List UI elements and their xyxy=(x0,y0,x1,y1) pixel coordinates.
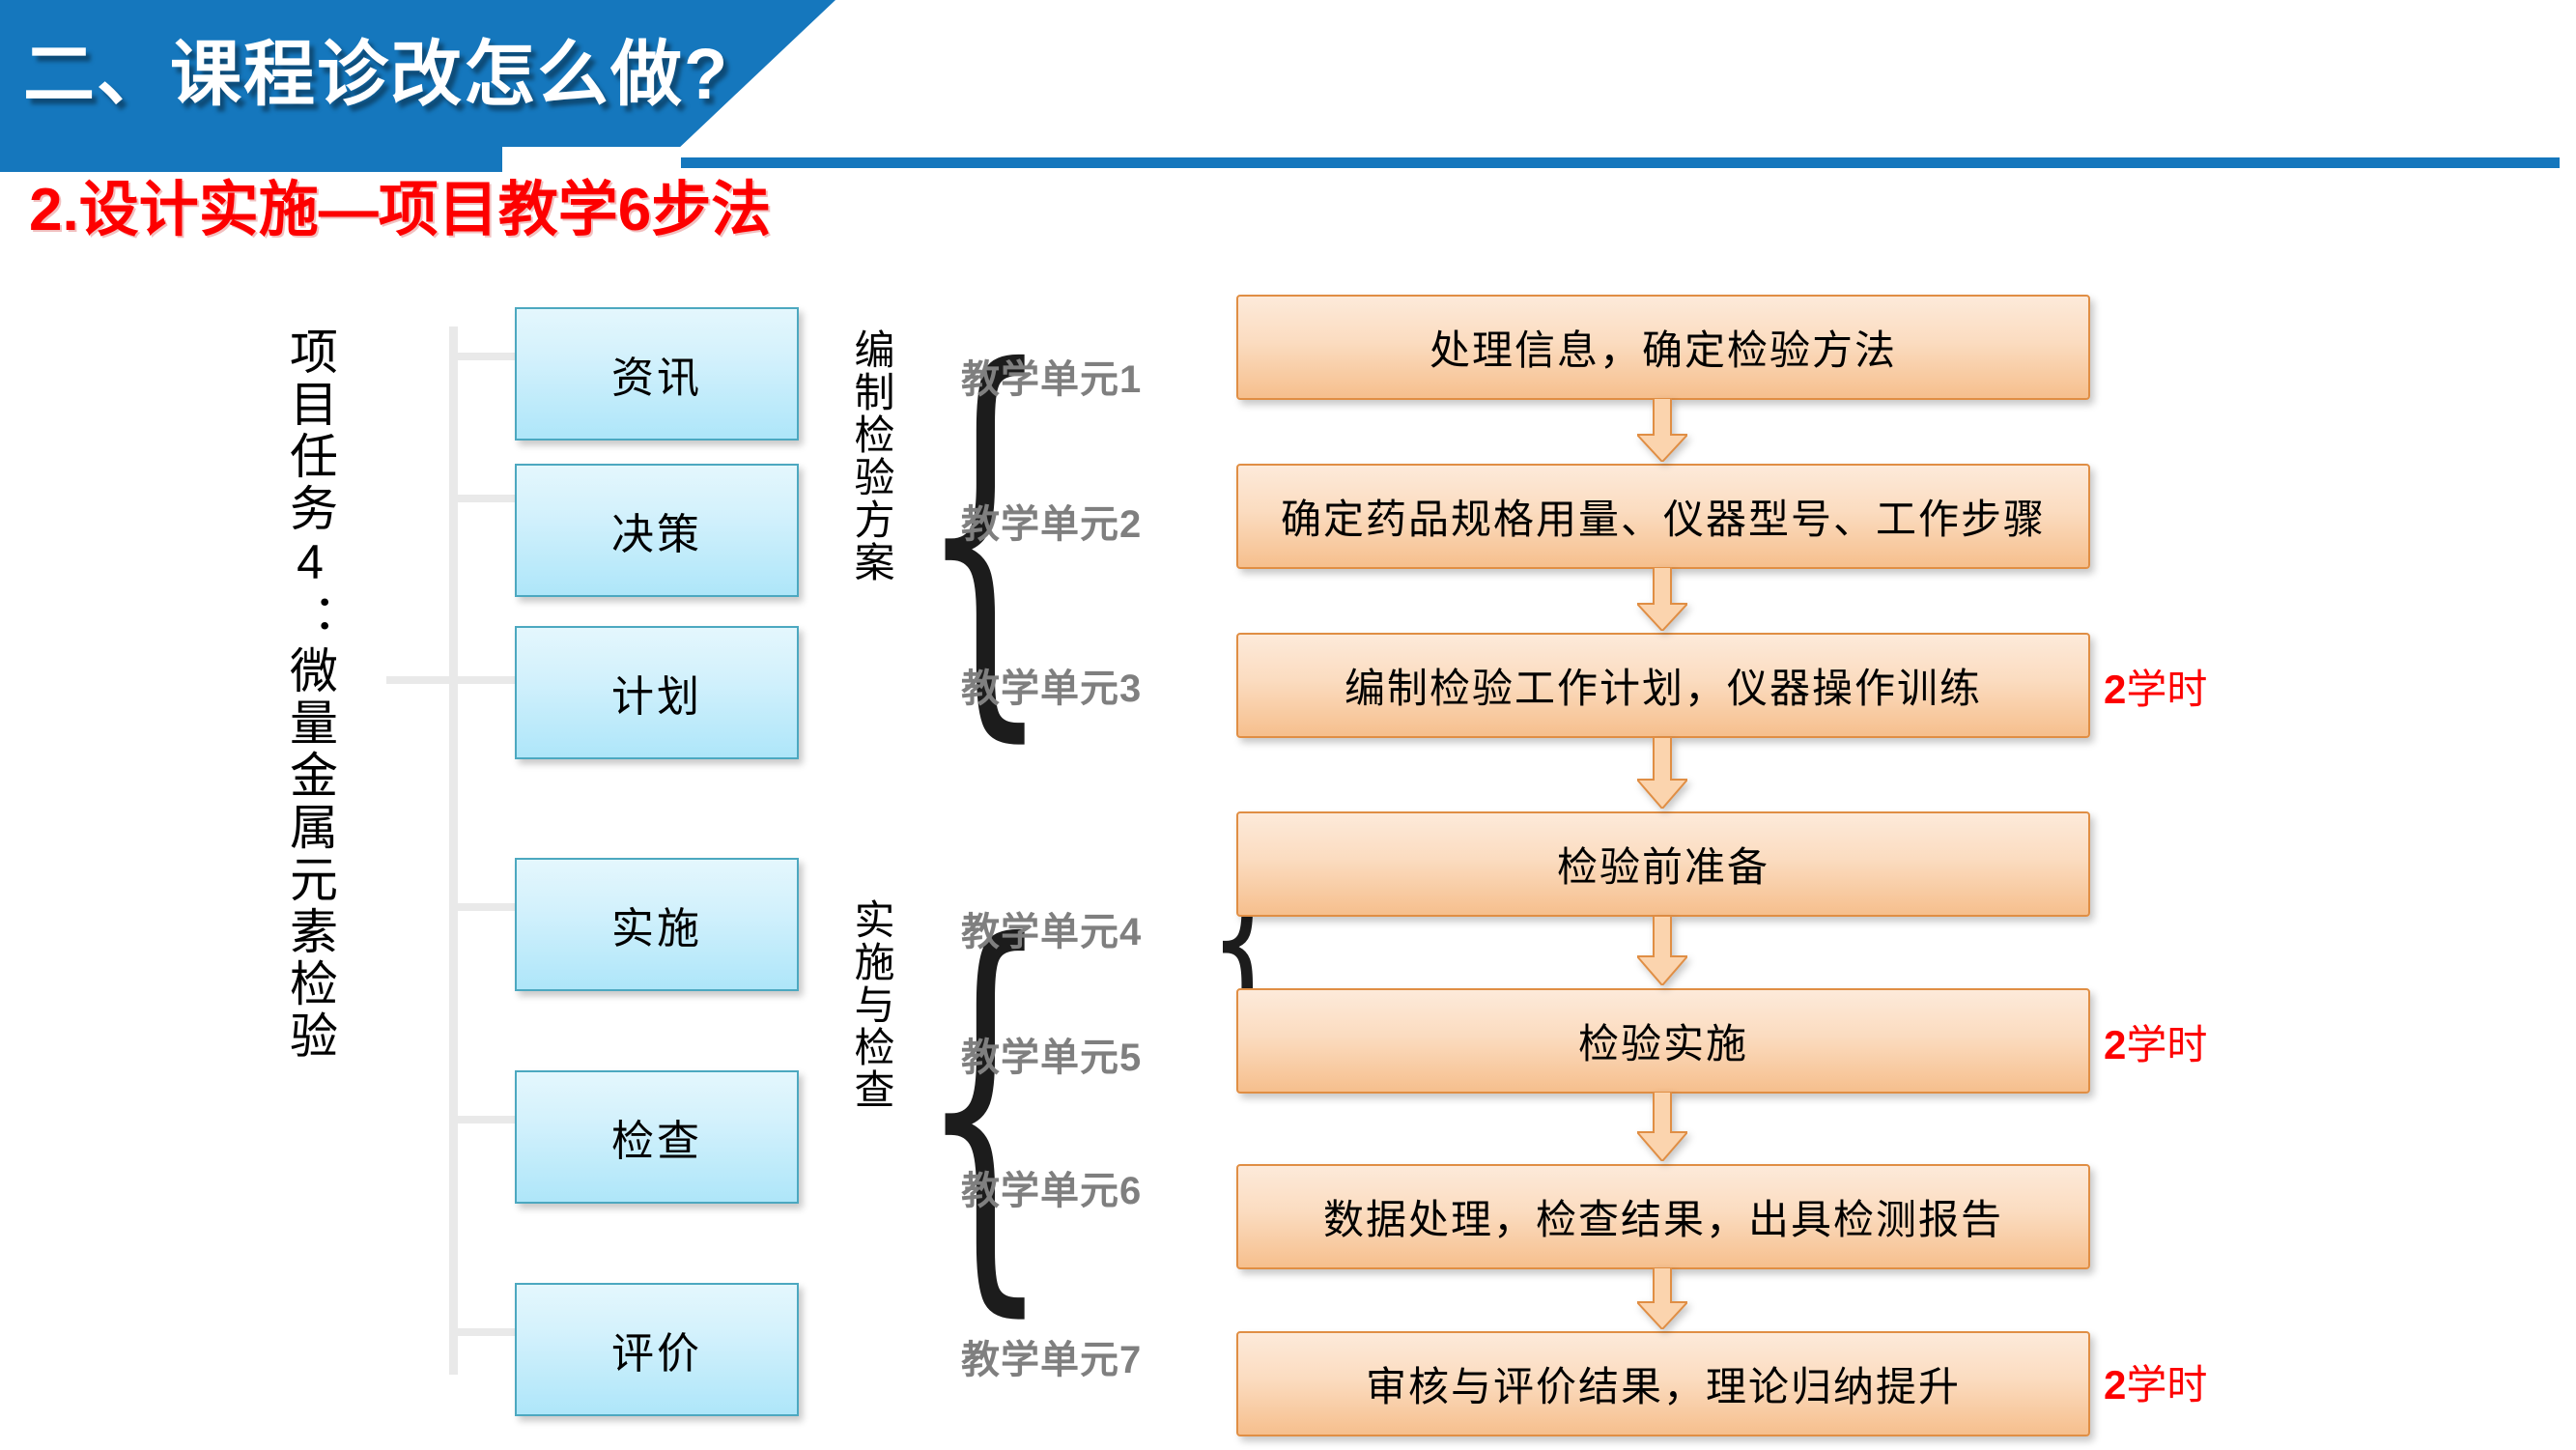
unit-label-4: 教学单元4 xyxy=(961,900,1183,956)
arrow-down-icon xyxy=(1637,567,1687,631)
credit-hours-value: 2 xyxy=(2104,667,2126,712)
flow-box-review-evaluate[interactable]: 审核与评价结果，理论归纳提升 xyxy=(1236,1331,2090,1436)
step-box-evaluate[interactable]: 评价 xyxy=(515,1283,799,1416)
unit-label-6: 教学单元6 xyxy=(961,1159,1183,1215)
step-box-implement[interactable]: 实施 xyxy=(515,858,799,991)
tree-branch-line xyxy=(451,903,516,911)
credit-hours-badge-1: 2学时 xyxy=(2104,657,2207,716)
group-label-execute-phase: 实施与检查 xyxy=(842,898,898,1188)
brace-icon-group-two: { xyxy=(920,894,1050,1317)
flow-box-label: 确定药品规格用量、仪器型号、工作步骤 xyxy=(1281,487,2046,546)
step-box-check[interactable]: 检查 xyxy=(515,1070,799,1204)
step-box-label: 实施 xyxy=(611,894,702,955)
tree-branch-line xyxy=(451,676,516,684)
flow-box-label: 处理信息，确定检验方法 xyxy=(1430,318,1897,377)
credit-hours-unit: 学时 xyxy=(2126,1022,2207,1067)
step-box-label: 计划 xyxy=(611,662,702,724)
flow-box-inspection-exec[interactable]: 检验实施 xyxy=(1236,988,2090,1094)
page-title: 二、课程诊改怎么做? xyxy=(23,17,777,133)
step-box-label: 资讯 xyxy=(611,343,702,405)
credit-hours-value: 2 xyxy=(2104,1362,2126,1407)
unit-label-1: 教学单元1 xyxy=(961,348,1183,404)
tree-root-connector-line xyxy=(386,676,456,684)
step-box-decision[interactable]: 决策 xyxy=(515,464,799,597)
header-banner-notch xyxy=(502,147,695,174)
step-box-label: 决策 xyxy=(611,499,702,561)
credit-hours-value: 2 xyxy=(2104,1022,2126,1067)
tree-branch-line xyxy=(451,353,516,360)
arrow-down-icon xyxy=(1637,398,1687,462)
arrow-down-icon xyxy=(1637,1092,1687,1161)
flow-box-label: 审核与评价结果，理论归纳提升 xyxy=(1366,1354,1961,1413)
flow-box-process-info[interactable]: 处理信息，确定检验方法 xyxy=(1236,295,2090,400)
tree-branch-line xyxy=(451,495,516,502)
credit-hours-badge-2: 2学时 xyxy=(2104,1012,2207,1071)
section-title: 2.设计实施—项目教学6步法 xyxy=(29,172,771,249)
group-label-plan-phase: 编制检验方案 xyxy=(842,328,898,734)
flow-box-work-plan[interactable]: 编制检验工作计划，仪器操作训练 xyxy=(1236,633,2090,738)
credit-hours-badge-3: 2学时 xyxy=(2104,1352,2207,1411)
header-divider-rule xyxy=(681,157,2560,168)
credit-hours-unit: 学时 xyxy=(2126,1362,2207,1407)
flow-box-determine-specs[interactable]: 确定药品规格用量、仪器型号、工作步骤 xyxy=(1236,464,2090,569)
step-box-plan[interactable]: 计划 xyxy=(515,626,799,759)
arrow-down-icon xyxy=(1637,916,1687,985)
step-box-info[interactable]: 资讯 xyxy=(515,307,799,441)
step-box-label: 检查 xyxy=(611,1106,702,1168)
tree-spine-line xyxy=(449,327,458,1375)
unit-label-7: 教学单元7 xyxy=(961,1328,1183,1384)
step-box-label: 评价 xyxy=(611,1319,702,1380)
flow-box-pre-inspection[interactable]: 检验前准备 xyxy=(1236,811,2090,917)
unit-label-3: 教学单元3 xyxy=(961,657,1183,713)
arrow-down-icon xyxy=(1637,1267,1687,1329)
flow-box-label: 数据处理，检查结果，出具检测报告 xyxy=(1323,1187,2003,1246)
flow-box-label: 检验前准备 xyxy=(1557,835,1769,894)
unit-label-5: 教学单元5 xyxy=(961,1026,1183,1082)
tree-branch-line xyxy=(451,1116,516,1123)
project-task-vertical-label: 项目任务4：微量金属元素检验 xyxy=(275,327,343,1360)
flow-box-label: 编制检验工作计划，仪器操作训练 xyxy=(1345,656,1982,715)
flow-box-data-report[interactable]: 数据处理，检查结果，出具检测报告 xyxy=(1236,1164,2090,1269)
credit-hours-unit: 学时 xyxy=(2126,667,2207,712)
arrow-down-icon xyxy=(1637,737,1687,809)
tree-branch-line xyxy=(451,1328,516,1336)
flow-box-label: 检验实施 xyxy=(1578,1011,1748,1070)
unit-label-2: 教学单元2 xyxy=(961,493,1183,549)
